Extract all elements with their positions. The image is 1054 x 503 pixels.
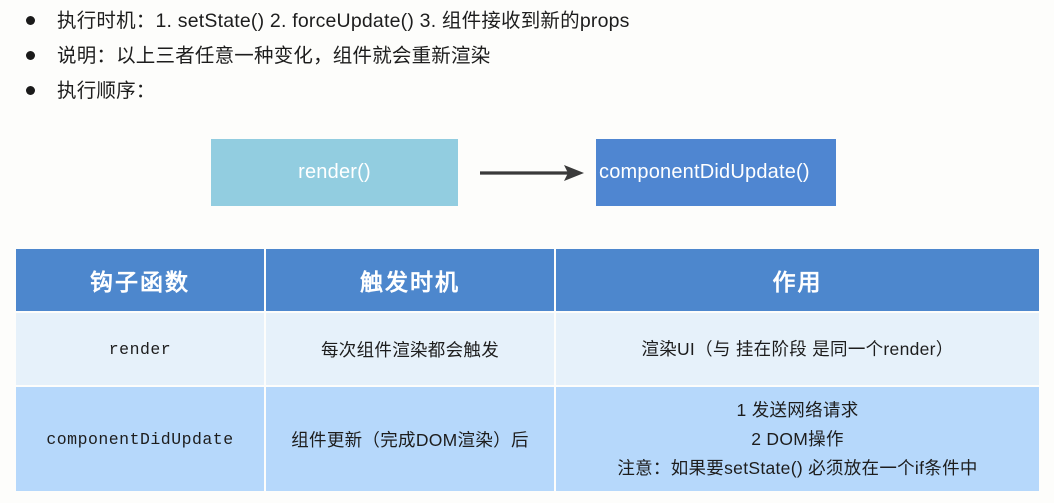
cell-use: 渲染UI（与 挂在阶段 是同一个render） xyxy=(556,313,1039,385)
use-line: 渲染UI（与 挂在阶段 是同一个render） xyxy=(556,339,1039,359)
bullet-dot-icon xyxy=(26,86,35,95)
table-row: render 每次组件渲染都会触发 渲染UI（与 挂在阶段 是同一个render… xyxy=(16,313,1039,385)
use-line: 2 DOM操作 xyxy=(556,429,1039,449)
bullet-item-execution-order: 执行顺序： xyxy=(0,76,1054,111)
cell-hook-name: render xyxy=(16,313,264,385)
cell-timing: 组件更新（完成DOM渲染）后 xyxy=(266,387,554,491)
table-header-row: 钩子函数 触发时机 作用 xyxy=(16,249,1039,311)
table-header-use: 作用 xyxy=(556,249,1039,311)
table-header-hook: 钩子函数 xyxy=(16,249,264,311)
bullet-item-label: 执行顺序： xyxy=(57,76,156,106)
table-body: render 每次组件渲染都会触发 渲染UI（与 挂在阶段 是同一个render… xyxy=(16,313,1039,491)
table-header-timing: 触发时机 xyxy=(266,249,554,311)
bullet-item-label: 执行时机：1. setState() 2. forceUpdate() 3. 组… xyxy=(57,6,630,36)
cell-use: 1 发送网络请求 2 DOM操作 注意：如果要setState() 必须放在一个… xyxy=(556,387,1039,491)
cell-timing: 每次组件渲染都会触发 xyxy=(266,313,554,385)
use-line: 1 发送网络请求 xyxy=(556,400,1039,420)
cell-hook-name: componentDidUpdate xyxy=(16,387,264,491)
lifecycle-hooks-table: 钩子函数 触发时机 作用 render 每次组件渲染都会触发 渲染UI（与 挂在… xyxy=(14,247,1041,493)
bullet-list: 执行时机：1. setState() 2. forceUpdate() 3. 组… xyxy=(0,0,1054,111)
bullet-item-label: 说明：以上三者任意一种变化，组件就会重新渲染 xyxy=(57,41,490,71)
use-line: 注意：如果要setState() 必须放在一个if条件中 xyxy=(556,458,1039,478)
arrow-right-icon xyxy=(478,163,586,183)
flow-box-render-label: render() xyxy=(298,161,371,184)
table-header: 钩子函数 触发时机 作用 xyxy=(16,249,1039,311)
use-line-group: 1 发送网络请求 2 DOM操作 注意：如果要setState() 必须放在一个… xyxy=(556,400,1039,478)
bullet-dot-icon xyxy=(26,51,35,60)
use-line-group: 渲染UI（与 挂在阶段 是同一个render） xyxy=(556,339,1039,359)
flow-box-component-did-update: componentDidUpdate() xyxy=(596,139,836,206)
flow-box-render: render() xyxy=(211,139,458,206)
bullet-dot-icon xyxy=(26,16,35,25)
flow-diagram: render() componentDidUpdate() xyxy=(0,139,1054,209)
bullet-item-execution-timing: 执行时机：1. setState() 2. forceUpdate() 3. 组… xyxy=(0,6,1054,41)
table-row: componentDidUpdate 组件更新（完成DOM渲染）后 1 发送网络… xyxy=(16,387,1039,491)
flow-box-component-did-update-label: componentDidUpdate() xyxy=(599,161,810,184)
bullet-item-description: 说明：以上三者任意一种变化，组件就会重新渲染 xyxy=(0,41,1054,76)
